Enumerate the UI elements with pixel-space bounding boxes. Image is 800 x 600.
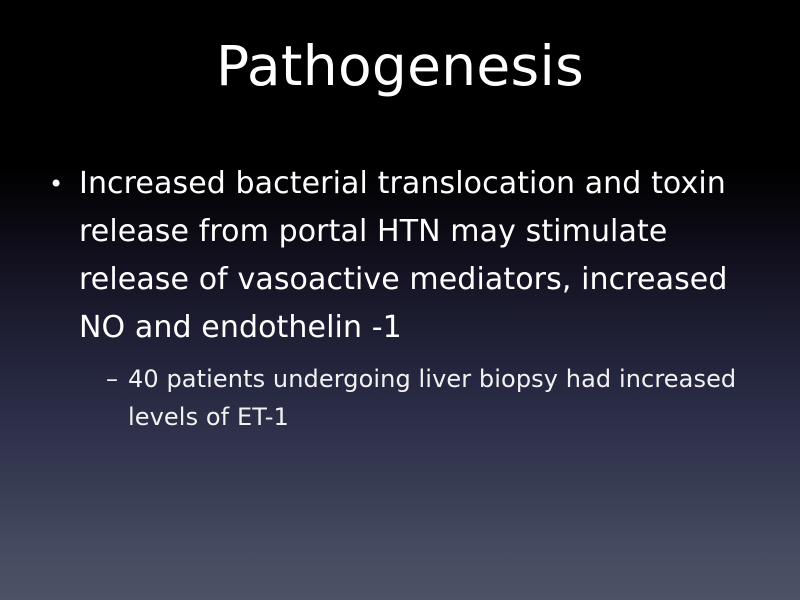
bullet-level-2-text: 40 patients undergoing liver biopsy had …: [128, 360, 756, 436]
presentation-slide: Pathogenesis • Increased bacterial trans…: [0, 0, 800, 600]
slide-title: Pathogenesis: [0, 36, 800, 97]
bullet-level-1-text: Increased bacterial translocation and to…: [79, 160, 756, 352]
slide-body: • Increased bacterial translocation and …: [44, 160, 756, 436]
bullet-level-2: – 40 patients undergoing liver biopsy ha…: [106, 360, 756, 436]
round-bullet-icon: •: [49, 160, 71, 208]
bullet-level-1: • Increased bacterial translocation and …: [44, 160, 756, 352]
dash-bullet-icon: –: [106, 360, 124, 398]
